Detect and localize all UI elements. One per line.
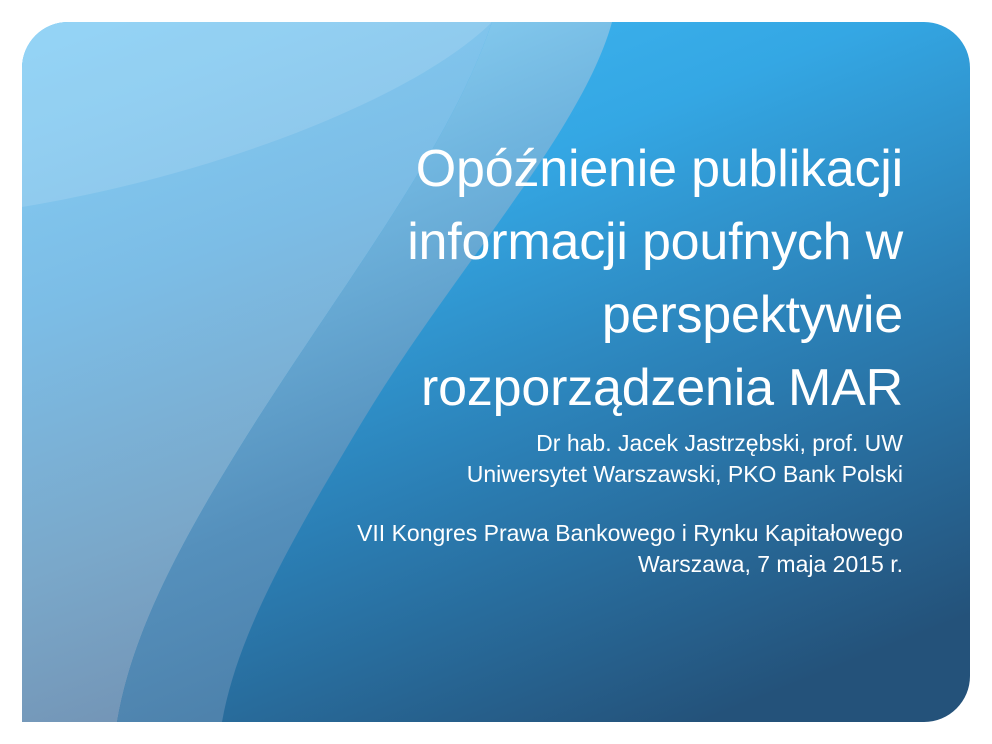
- subtitle-spacer: [263, 490, 903, 518]
- author-affiliation: Uniwersytet Warszawski, PKO Bank Polski: [263, 459, 903, 490]
- title-line-3: perspektywie: [283, 279, 903, 352]
- slide-text-container: Opóźnienie publikacji informacji poufnyc…: [0, 0, 992, 744]
- slide-title: Opóźnienie publikacji informacji poufnyc…: [283, 133, 903, 425]
- title-line-2: informacji poufnych w: [283, 206, 903, 279]
- title-slide: Opóźnienie publikacji informacji poufnyc…: [0, 0, 992, 744]
- title-line-1: Opóźnienie publikacji: [283, 133, 903, 206]
- event-name: VII Kongres Prawa Bankowego i Rynku Kapi…: [263, 518, 903, 549]
- slide-subtitle: Dr hab. Jacek Jastrzębski, prof. UW Uniw…: [263, 428, 903, 580]
- event-place-date: Warszawa, 7 maja 2015 r.: [263, 549, 903, 580]
- title-line-4: rozporządzenia MAR: [283, 352, 903, 425]
- author-name: Dr hab. Jacek Jastrzębski, prof. UW: [263, 428, 903, 459]
